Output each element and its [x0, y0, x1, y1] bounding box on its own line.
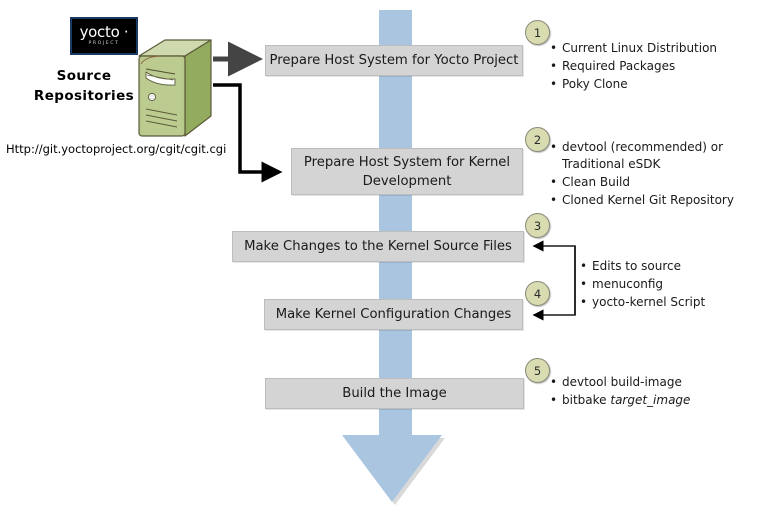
yocto-project-logo: yocto · PROJECT	[70, 17, 138, 55]
list-item: menuconfig	[580, 276, 760, 293]
bitbake-command-prefix: bitbake	[562, 393, 610, 407]
bitbake-target-image-variable: target_image	[610, 393, 690, 407]
list-item: devtool (recommended) or Traditional eSD…	[550, 139, 750, 173]
list-item: yocto-kernel Script	[580, 294, 760, 311]
step-box-make-kernel-source-changes[interactable]: Make Changes to the Kernel Source Files	[232, 231, 524, 262]
step-badge-1: 1	[525, 20, 550, 45]
step-box-prepare-host-yocto[interactable]: Prepare Host System for Yocto Project	[265, 45, 523, 76]
step-1-notes: Current Linux Distribution Required Pack…	[550, 40, 765, 94]
list-item: Poky Clone	[550, 76, 765, 93]
step-badge-3: 3	[525, 213, 550, 238]
steps-3-4-shared-notes: Edits to source menuconfig yocto-kernel …	[580, 258, 760, 312]
step-box-prepare-host-kernel[interactable]: Prepare Host System for Kernel Developme…	[291, 148, 523, 195]
list-item: Edits to source	[580, 258, 760, 275]
list-item: Cloned Kernel Git Repository	[550, 192, 750, 209]
step-badge-4: 4	[525, 281, 550, 306]
logo-subtext: PROJECT	[88, 40, 119, 47]
server-tower-icon	[135, 38, 215, 140]
step-2-notes: devtool (recommended) or Traditional eSD…	[550, 139, 750, 210]
logo-wordmark: yocto ·	[80, 25, 129, 40]
source-repositories-url: Http://git.yoctoproject.org/cgit/cgit.cg…	[6, 142, 226, 156]
source-repositories-label: Source Repositories	[26, 66, 142, 106]
source-label-line-1: Source	[26, 66, 142, 86]
list-item: Current Linux Distribution	[550, 40, 765, 57]
list-item: bitbake target_image	[550, 392, 750, 409]
arrow-server-to-step2	[213, 85, 279, 172]
step-5-notes: devtool build-image bitbake target_image	[550, 374, 750, 410]
list-item: Required Packages	[550, 58, 765, 75]
list-item: Clean Build	[550, 174, 750, 191]
list-item: devtool build-image	[550, 374, 750, 391]
step-badge-2: 2	[525, 127, 550, 152]
step-box-build-the-image[interactable]: Build the Image	[265, 378, 524, 409]
source-label-line-2: Repositories	[26, 86, 142, 106]
diagram-canvas: yocto · PROJECT Source Repositories Http…	[0, 0, 769, 517]
step-box-make-kernel-config-changes[interactable]: Make Kernel Configuration Changes	[264, 299, 523, 330]
step-badge-5: 5	[525, 358, 550, 383]
